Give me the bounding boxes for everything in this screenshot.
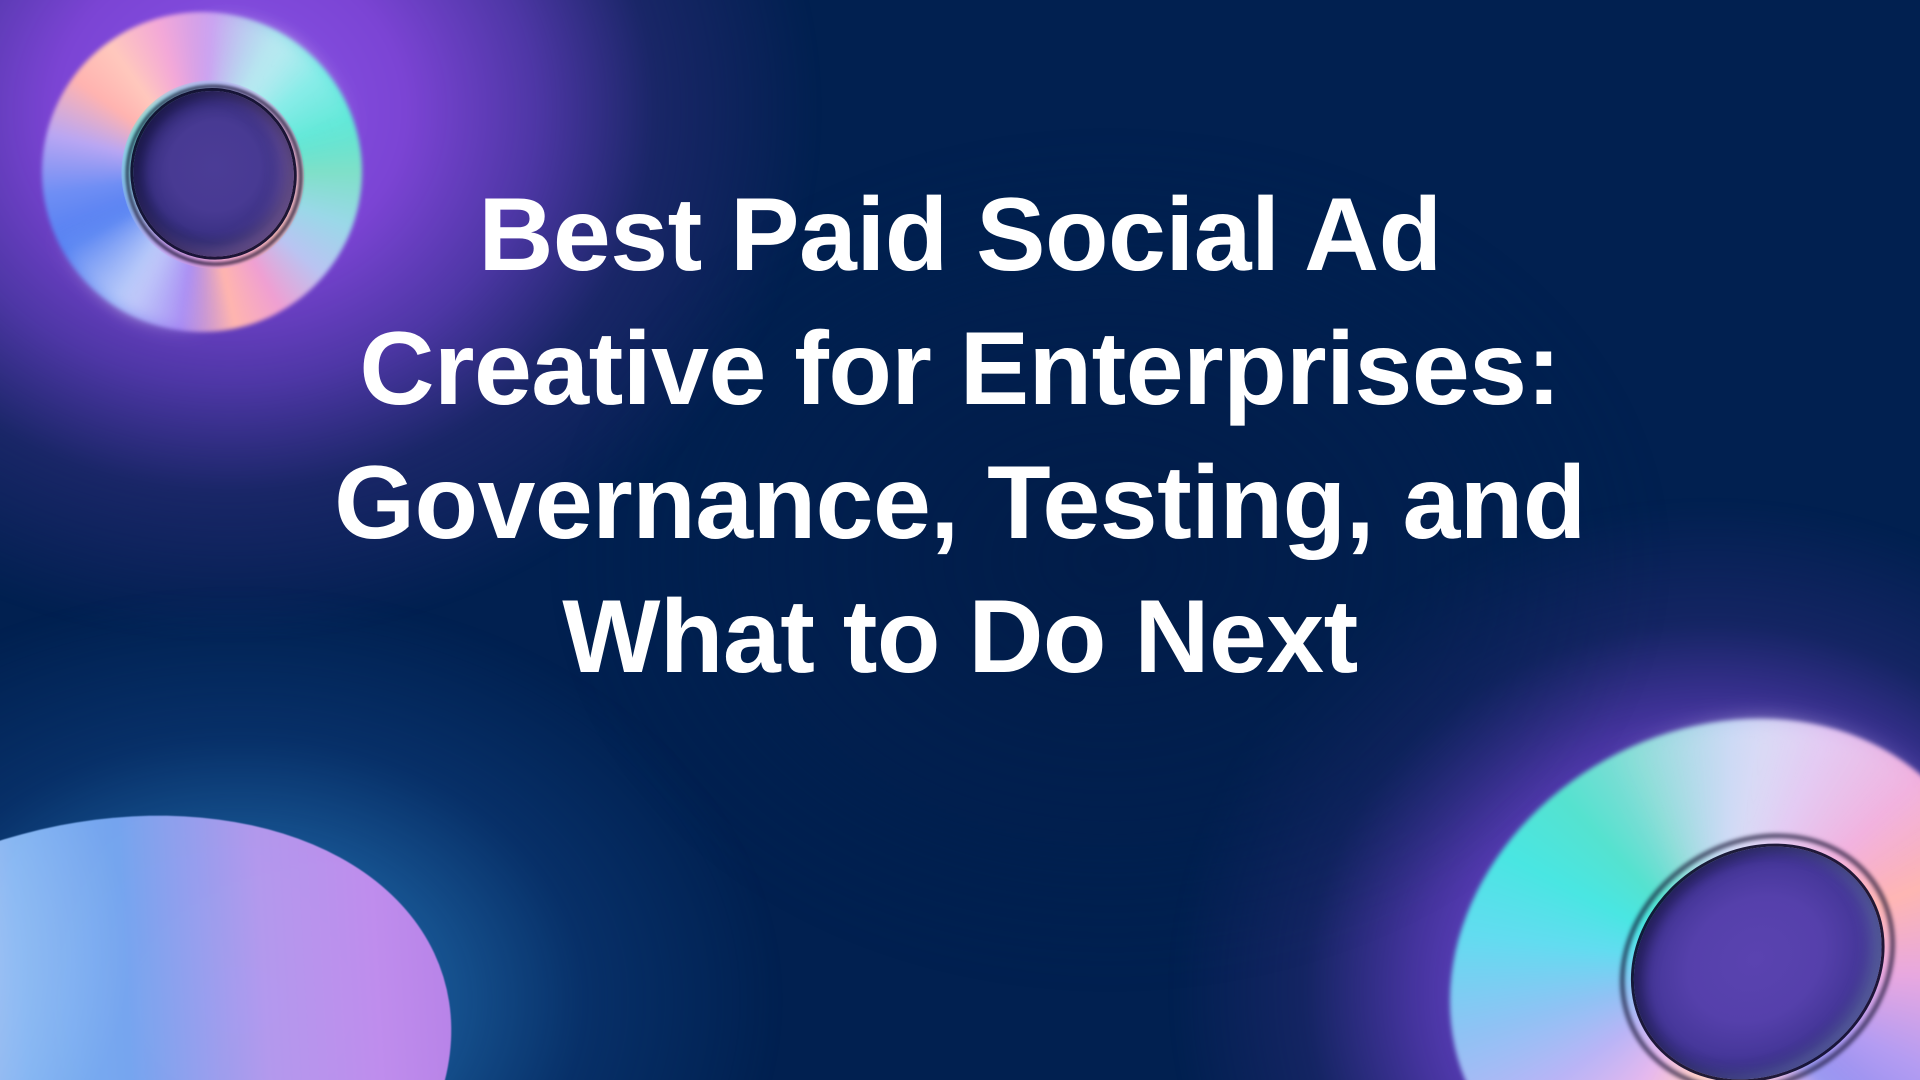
title-line-4: What to Do Next xyxy=(120,570,1800,704)
title-line-2: Creative for Enterprises: xyxy=(120,302,1800,436)
title-line-3: Governance, Testing, and xyxy=(120,436,1800,570)
page-title: Best Paid Social Ad Creative for Enterpr… xyxy=(0,168,1920,704)
title-line-1: Best Paid Social Ad xyxy=(120,168,1800,302)
iridescent-disc-bottom-left-decoration xyxy=(0,728,519,1080)
blog-title-card: Best Paid Social Ad Creative for Enterpr… xyxy=(0,0,1920,1080)
